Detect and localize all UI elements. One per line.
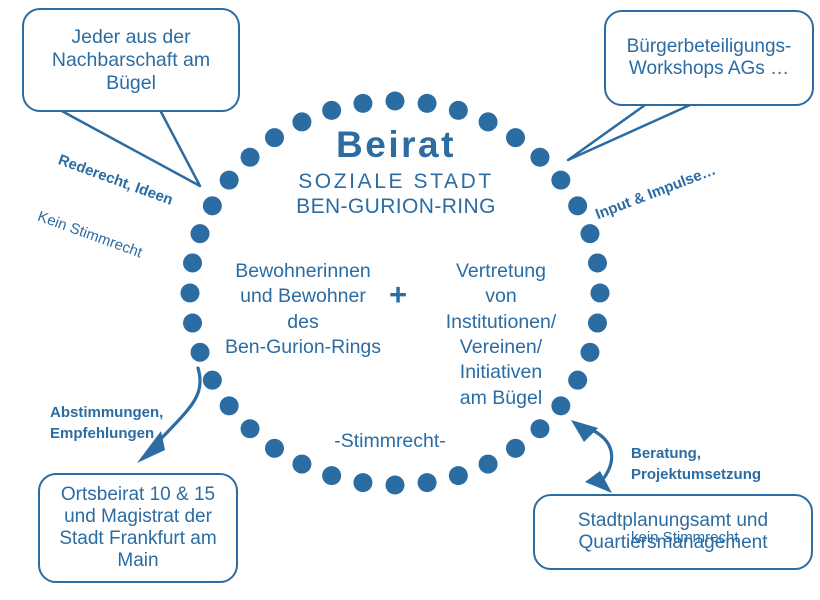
ring-dot xyxy=(506,439,525,458)
ring-dot xyxy=(551,171,570,190)
ring-dot xyxy=(591,284,610,303)
ring-dot xyxy=(588,314,607,333)
annotation-beratung-regular: kein Stimmrecht xyxy=(631,527,761,548)
ring-dot xyxy=(353,94,372,113)
ring-dot xyxy=(580,343,599,362)
ring-dot xyxy=(449,101,468,120)
center-title-block: Beirat SOZIALE STADT BEN-GURION-RING xyxy=(246,126,546,219)
ring-dot xyxy=(386,92,405,111)
ring-dot xyxy=(265,439,284,458)
annotation-rederecht-bold: Rederecht, Ideen xyxy=(55,150,176,210)
ring-dot xyxy=(588,253,607,272)
ring-dot xyxy=(568,196,587,215)
ring-dot xyxy=(386,476,405,495)
arrow-abstimmungen-path xyxy=(158,368,200,442)
ring-dot xyxy=(353,473,372,492)
members-institutions-column: Vertretung von Institutionen/ Vereinen/ … xyxy=(419,259,583,411)
center-subtitle-soziale-stadt: SOZIALE STADT xyxy=(246,170,546,194)
page-title: Beirat xyxy=(246,126,546,165)
arrow-beratung-head-up xyxy=(571,420,598,442)
voting-rights-label: -Stimmrecht- xyxy=(300,430,480,453)
callout-ortsbeirat-magistrat-text: Ortsbeirat 10 & 15 und Magistrat der Sta… xyxy=(40,484,236,572)
ring-dot xyxy=(220,396,239,415)
annotation-abstimmungen: Abstimmungen, Empfehlungen xyxy=(50,360,163,486)
ring-dot xyxy=(183,314,202,333)
ring-dot xyxy=(292,455,311,474)
annotation-beratung: Beratung, Projektumsetzung kein Stimmrec… xyxy=(631,401,761,590)
center-subtitle-ben-gurion-ring: BEN-GURION-RING xyxy=(246,195,546,219)
callout-participation-formats[interactable]: Bürgerbeteiligungs- Workshops AGs … xyxy=(604,10,814,106)
callout-neighbourhood-text: Jeder aus der Nachbarschaft am Bügel xyxy=(24,26,238,95)
diagram-canvas: Jeder aus der Nachbarschaft am Bügel Bür… xyxy=(0,0,820,600)
ring-dot xyxy=(322,466,341,485)
ring-dot xyxy=(183,253,202,272)
annotation-abstimmungen-bold: Abstimmungen, Empfehlungen xyxy=(50,402,163,444)
ring-dot xyxy=(191,343,210,362)
annotation-beratung-bold: Beratung, Projektumsetzung xyxy=(631,443,761,485)
ring-dot xyxy=(580,224,599,243)
annotation-input-impulse-bold: Input & Impulse… xyxy=(593,160,719,225)
ring-dot xyxy=(418,473,437,492)
ring-dot xyxy=(203,196,222,215)
ring-dot xyxy=(418,94,437,113)
ring-dot xyxy=(449,466,468,485)
ring-dot xyxy=(220,171,239,190)
annotation-rederecht-regular: Kein Stimmrecht xyxy=(34,207,155,267)
ring-dot xyxy=(191,224,210,243)
ring-dot xyxy=(479,455,498,474)
ring-dot xyxy=(203,371,222,390)
callout-ortsbeirat-magistrat[interactable]: Ortsbeirat 10 & 15 und Magistrat der Sta… xyxy=(38,473,238,583)
callout-neighbourhood[interactable]: Jeder aus der Nachbarschaft am Bügel xyxy=(22,8,240,112)
ring-dot xyxy=(530,419,549,438)
members-residents-column: Bewohnerinnen und Bewohner des Ben-Gurio… xyxy=(213,259,393,360)
plus-icon: + xyxy=(389,279,407,310)
ring-dot xyxy=(322,101,341,120)
callout-participation-formats-text: Bürgerbeteiligungs- Workshops AGs … xyxy=(606,36,812,80)
ring-dot xyxy=(181,284,200,303)
ring-dot xyxy=(241,419,260,438)
